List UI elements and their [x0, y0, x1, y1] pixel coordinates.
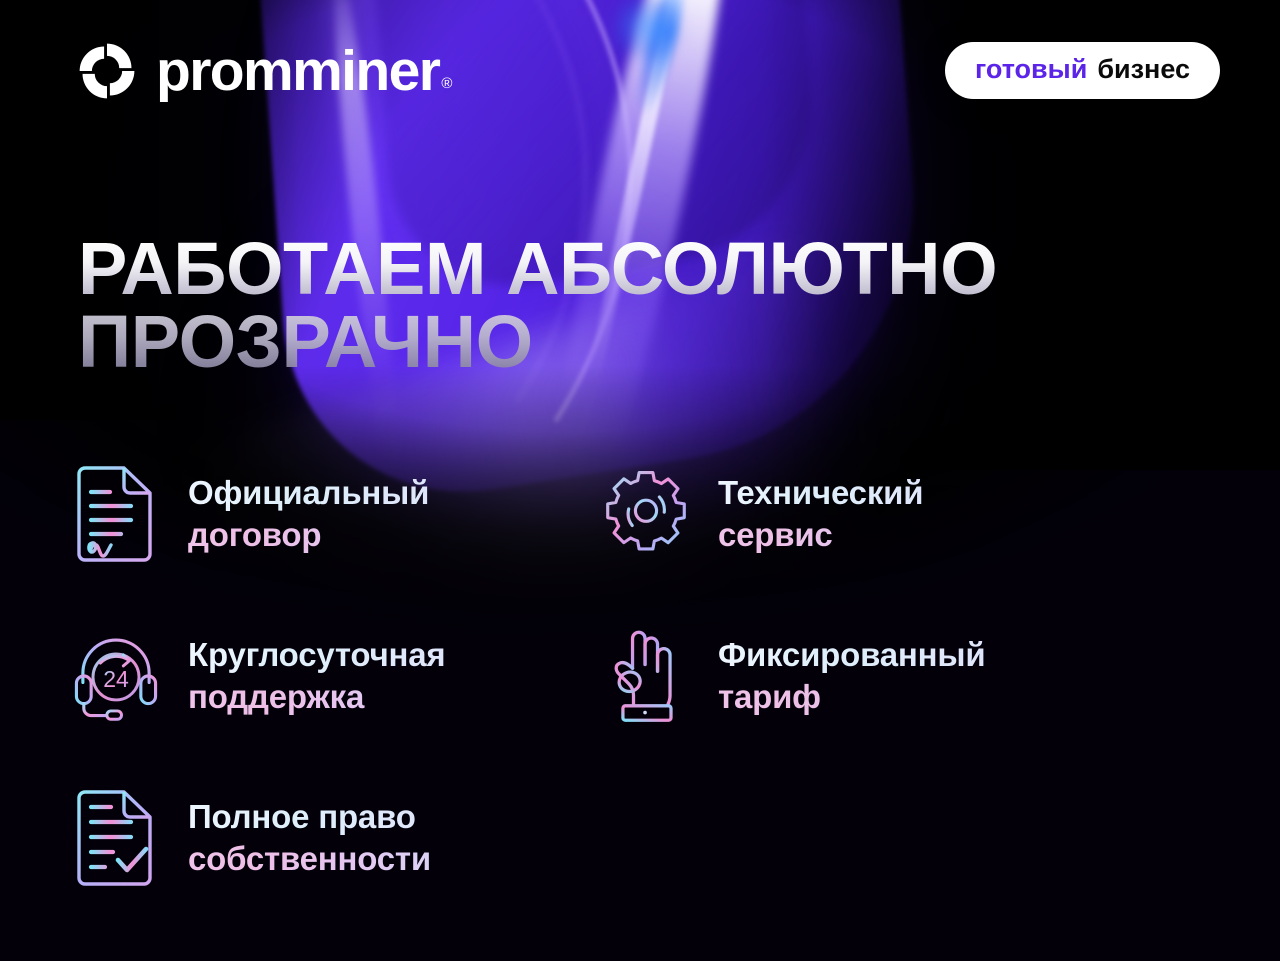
feature-label-line-2: поддержка — [188, 676, 445, 718]
feature-label: Круглосуточная поддержка — [188, 634, 445, 718]
brand-name: promminer® — [156, 43, 451, 100]
feature-label: Фиксированный тариф — [718, 634, 985, 718]
gear-service-icon — [600, 464, 692, 564]
headline-line-2: ПРОЗРАЧНО — [78, 305, 1208, 378]
feature-label-line-2: тариф — [718, 676, 985, 718]
feature-item: 24 Круглосуточная поддержка — [70, 626, 600, 726]
ok-hand-icon — [600, 626, 692, 726]
feature-list: Официальный договор — [70, 464, 1220, 888]
promotional-banner: promminer® готовый бизнес РАБОТАЕМ АБСОЛ… — [0, 0, 1280, 961]
badge-tail-text: бизнес — [1097, 56, 1190, 83]
feature-item: Полное право собственности — [70, 788, 600, 888]
feature-label-line-1: Технический — [718, 472, 923, 514]
feature-label-line-1: Официальный — [188, 472, 429, 514]
feature-label-line-2: сервис — [718, 514, 923, 556]
feature-label: Официальный договор — [188, 472, 429, 556]
headline-line-1: РАБОТАЕМ АБСОЛЮТНО — [78, 232, 1208, 305]
feature-item: Фиксированный тариф — [600, 626, 1130, 726]
brand-name-text: promminer — [156, 39, 439, 103]
feature-label: Технический сервис — [718, 472, 923, 556]
headline: РАБОТАЕМ АБСОЛЮТНО ПРОЗРАЧНО — [78, 232, 1208, 379]
ready-business-badge[interactable]: готовый бизнес — [945, 42, 1220, 99]
promminer-logo-icon — [78, 42, 136, 100]
registered-trademark-icon: ® — [441, 75, 450, 92]
document-check-icon — [70, 788, 162, 888]
feature-item: Технический сервис — [600, 464, 1130, 564]
feature-label-line-1: Фиксированный — [718, 634, 985, 676]
feature-label-line-1: Полное право — [188, 796, 431, 838]
support-badge-text: 24 — [103, 666, 129, 692]
headset-24h-icon: 24 — [70, 626, 162, 726]
document-signature-icon — [70, 464, 162, 564]
feature-label: Полное право собственности — [188, 796, 431, 880]
banner-header: promminer® готовый бизнес — [0, 0, 1280, 150]
feature-label-line-1: Круглосуточная — [188, 634, 445, 676]
feature-label-line-2: договор — [188, 514, 429, 556]
brand-lockup[interactable]: promminer® — [78, 42, 451, 100]
feature-label-line-2: собственности — [188, 838, 431, 880]
feature-item: Официальный договор — [70, 464, 600, 564]
badge-lead-text: готовый — [975, 56, 1087, 83]
